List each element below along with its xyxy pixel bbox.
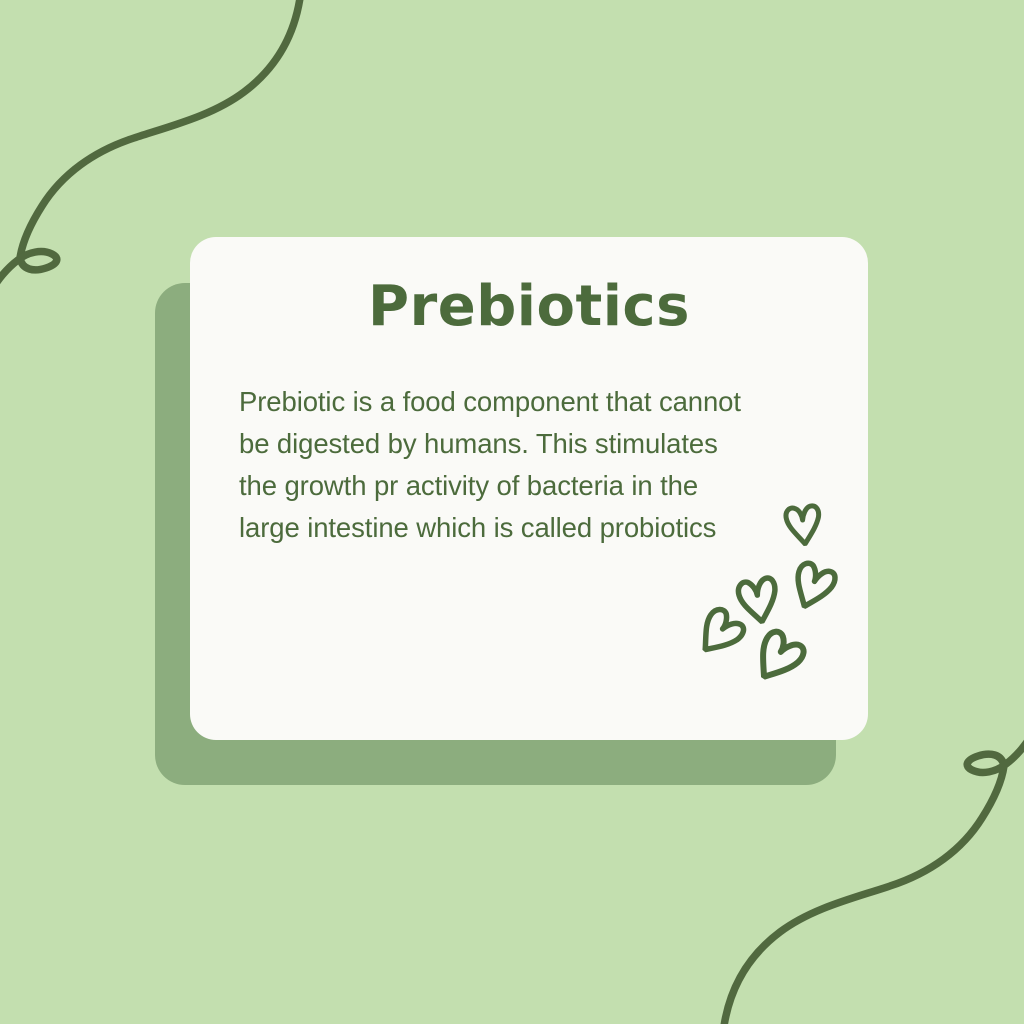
body-line-1: Prebiotic is a food component that canno… bbox=[239, 381, 829, 423]
card-body-text: Prebiotic is a food component that canno… bbox=[239, 381, 829, 549]
card-title: Prebiotics bbox=[190, 279, 868, 335]
content-card: Prebiotics Prebiotic is a food component… bbox=[190, 237, 868, 740]
body-line-4: large intestine which is called probioti… bbox=[239, 507, 829, 549]
poster-canvas: Prebiotics Prebiotic is a food component… bbox=[0, 0, 1024, 1024]
heart-icon-3 bbox=[731, 570, 785, 627]
heart-icon-4 bbox=[686, 598, 753, 666]
body-line-2: be digested by humans. This stimulates bbox=[239, 423, 829, 465]
heart-icon-2 bbox=[782, 553, 843, 617]
heart-icon-5 bbox=[742, 620, 814, 693]
body-line-3: the growth pr activity of bacteria in th… bbox=[239, 465, 829, 507]
